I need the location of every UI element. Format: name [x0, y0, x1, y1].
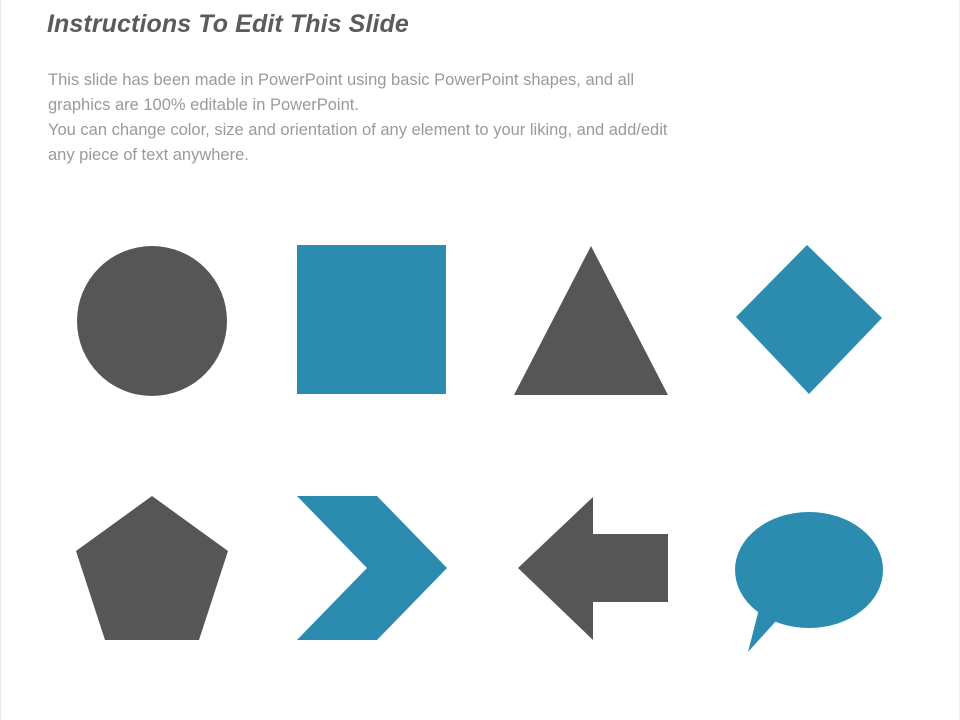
shape-gallery: [1, 0, 960, 720]
diamond-icon: [736, 245, 882, 394]
square-icon: [297, 245, 446, 394]
shape-square[interactable]: [290, 238, 458, 406]
shape-pentagon[interactable]: [71, 489, 239, 657]
pentagon-icon: [76, 496, 228, 640]
shape-triangle[interactable]: [507, 238, 675, 406]
shape-left-arrow[interactable]: [511, 489, 679, 657]
speech-bubble-icon: [735, 512, 883, 652]
shape-chevron[interactable]: [290, 489, 458, 657]
shape-speech-bubble[interactable]: [729, 489, 897, 657]
chevron-right-icon: [297, 496, 447, 640]
circle-icon: [77, 246, 227, 396]
shape-diamond[interactable]: [729, 238, 897, 406]
slide-canvas: Instructions To Edit This Slide This sli…: [0, 0, 960, 720]
arrow-left-icon: [518, 497, 668, 640]
shape-circle[interactable]: [71, 238, 239, 406]
triangle-icon: [514, 246, 668, 395]
